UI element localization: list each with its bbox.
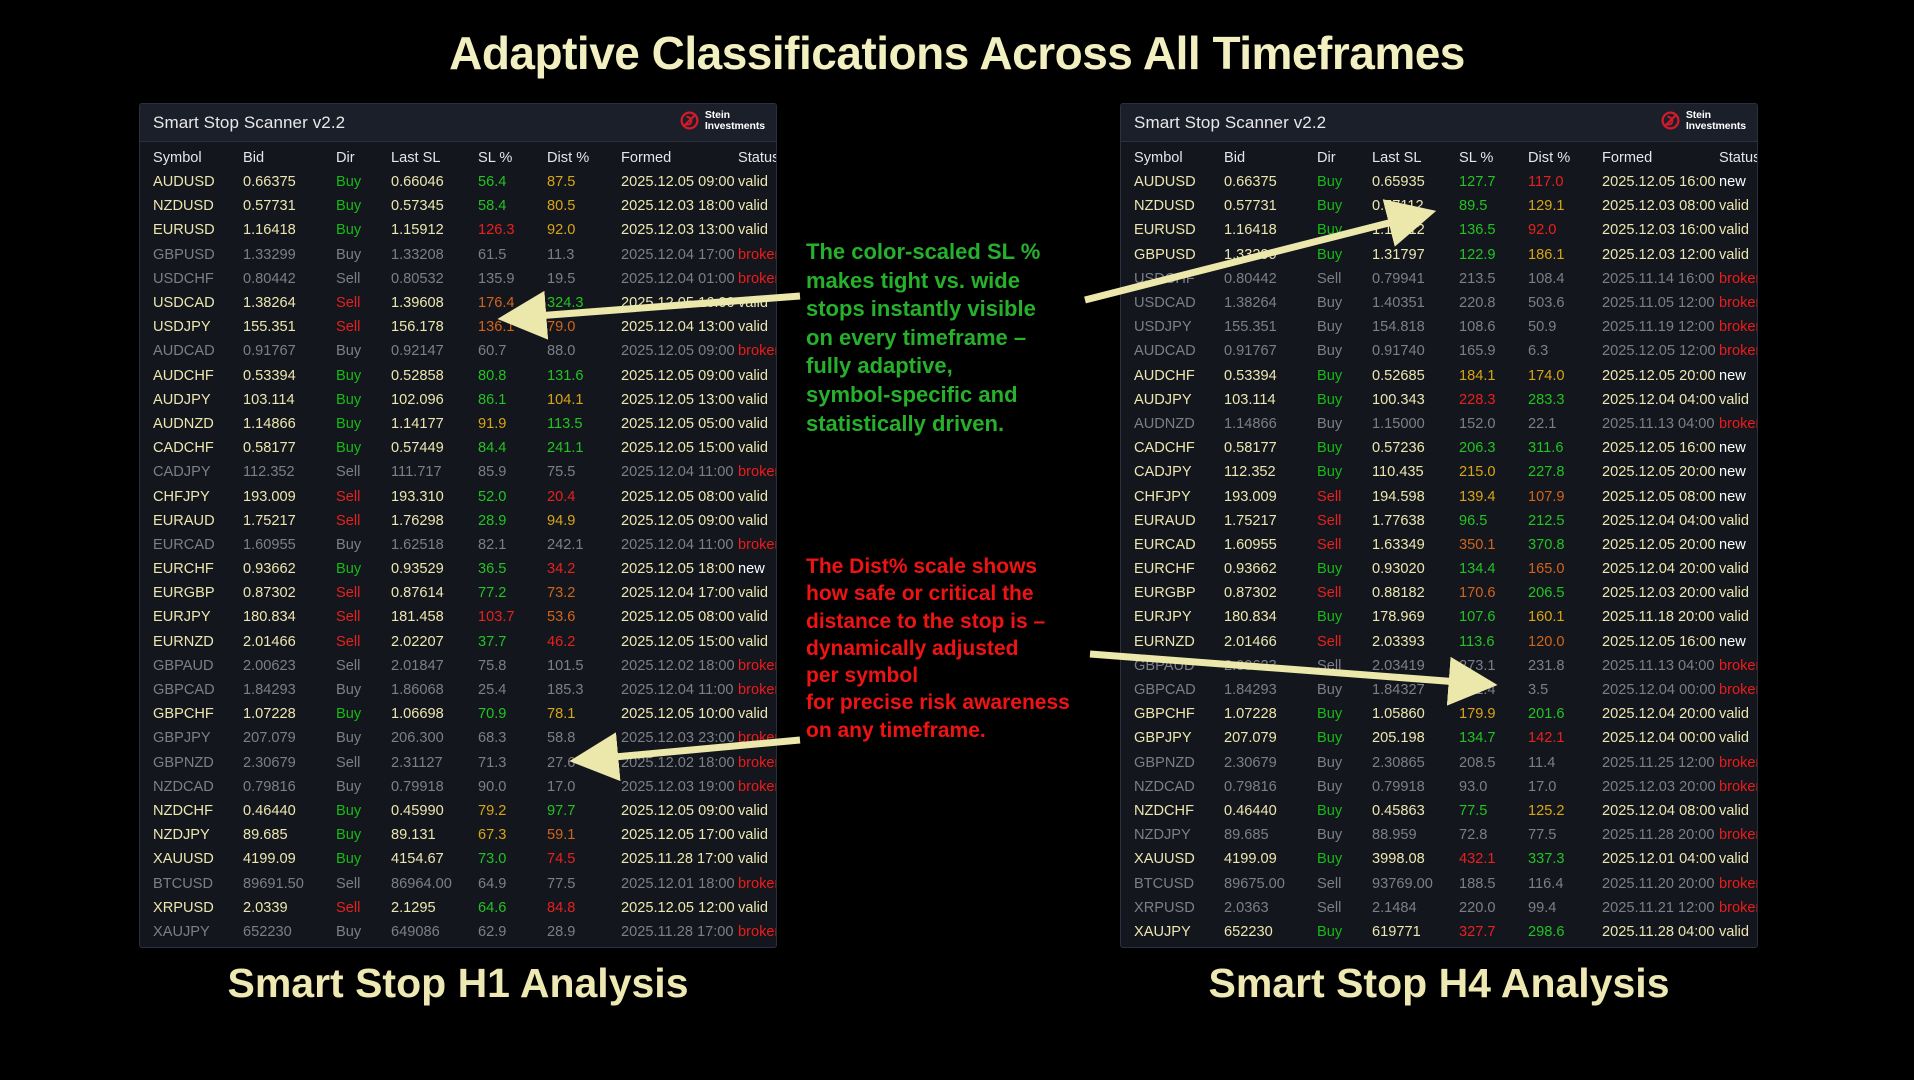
column-header-symbol: Symbol: [140, 142, 243, 170]
cell-last-sl: 2.1484: [1372, 896, 1459, 920]
cell-sl-percent: 165.9: [1459, 339, 1528, 363]
cell-dist-percent: 59.1: [547, 823, 621, 847]
cell-last-sl: 619771: [1372, 920, 1459, 944]
table-row[interactable]: GBPJPY207.079Buy205.198134.7142.12025.12…: [1121, 726, 1758, 750]
cell-symbol: EURAUD: [1121, 509, 1224, 533]
cell-dir: Buy: [1317, 315, 1372, 339]
cell-bid: 103.114: [1224, 388, 1317, 412]
table-row[interactable]: AUDCHF0.53394Buy0.52685184.1174.02025.12…: [1121, 364, 1758, 388]
cell-formed: 2025.11.25 12:00: [1602, 751, 1719, 775]
table-row[interactable]: EURUSD1.16418Buy1.15912126.392.02025.12.…: [140, 218, 777, 242]
table-row[interactable]: GBPAUD2.00623Sell2.0184775.8101.52025.12…: [140, 654, 777, 678]
table-row[interactable]: USDJPY155.351Buy154.818108.650.92025.11.…: [1121, 315, 1758, 339]
cell-sl-percent: 220.0: [1459, 896, 1528, 920]
cell-status: new: [1719, 170, 1758, 194]
cell-sl-percent: 86.1: [478, 388, 547, 412]
cell-bid: 89675.00: [1224, 871, 1317, 895]
stein-logo-icon: [679, 110, 700, 131]
cell-bid: 0.46440: [243, 799, 336, 823]
cell-symbol: USDCHF: [1121, 267, 1224, 291]
cell-status: new: [1719, 436, 1758, 460]
cell-bid: 155.351: [243, 315, 336, 339]
cell-last-sl: 0.57449: [391, 436, 478, 460]
cell-formed: 2025.12.04 04:00: [1602, 388, 1719, 412]
table-row[interactable]: CHFJPY193.009Sell193.31052.020.42025.12.…: [140, 484, 777, 508]
cell-last-sl: 6438.96: [391, 944, 478, 948]
table-row[interactable]: USDCAD1.38264Sell1.39608176.4324.32025.1…: [140, 291, 777, 315]
cell-last-sl: 2.02207: [391, 630, 478, 654]
cell-dist-percent: 87.5: [547, 170, 621, 194]
cell-formed: 2025.12.02 18:00: [621, 654, 738, 678]
cell-status: valid: [1719, 581, 1758, 605]
cell-symbol: GBPJPY: [140, 726, 243, 750]
table-row[interactable]: NZDCHF0.46440Buy0.4586377.5125.22025.12.…: [1121, 799, 1758, 823]
cell-status: broken: [1719, 678, 1758, 702]
table-row[interactable]: EURJPY180.834Sell181.458103.753.62025.12…: [140, 605, 777, 629]
cell-sl-percent: 213.5: [1459, 267, 1528, 291]
cell-last-sl: 1.63349: [1372, 533, 1459, 557]
cell-dir: Buy: [1317, 339, 1372, 363]
column-header-bid: Bid: [243, 142, 336, 170]
cell-bid: 89.685: [1224, 823, 1317, 847]
table-row[interactable]: AUDNZD1.14866Buy1.15000152.022.12025.11.…: [1121, 412, 1758, 436]
cell-last-sl: 0.79918: [1372, 775, 1459, 799]
cell-symbol: XAUJPY: [1121, 920, 1224, 944]
cell-bid: 1.33299: [243, 243, 336, 267]
cell-bid: 1.60955: [243, 533, 336, 557]
cell-sl-percent: 136.1: [478, 315, 547, 339]
cell-symbol: AUDUSD: [1121, 170, 1224, 194]
cell-formed: 2025.12.03 23:00: [621, 726, 738, 750]
table-row[interactable]: USDCAD1.38264Buy1.40351220.8503.62025.11…: [1121, 291, 1758, 315]
cell-status: valid: [738, 799, 777, 823]
cell-dist-percent: 92.0: [547, 218, 621, 242]
cell-dir: Buy: [1317, 388, 1372, 412]
cell-status: broken: [1719, 896, 1758, 920]
cell-symbol: EURCAD: [1121, 533, 1224, 557]
cell-symbol: CHFJPY: [1121, 484, 1224, 508]
cell-sl-percent: 228.3: [1459, 388, 1528, 412]
cell-last-sl: 2.01847: [391, 654, 478, 678]
table-row[interactable]: NZDUSD0.57731Buy0.5711289.5129.12025.12.…: [1121, 194, 1758, 218]
cell-formed: 2025.11.14 16:00: [1602, 267, 1719, 291]
table-row[interactable]: EURGBP0.87302Sell0.8761477.273.22025.12.…: [140, 581, 777, 605]
cell-symbol: BTCUSD: [140, 871, 243, 895]
table-row[interactable]: EURCHF0.93662Buy0.93020134.4165.02025.12…: [1121, 557, 1758, 581]
table-row[interactable]: GBPUSD1.33299Buy1.3320861.511.32025.12.0…: [140, 243, 777, 267]
cell-bid: 0.79816: [1224, 775, 1317, 799]
cell-sl-percent: 134.4: [1459, 557, 1528, 581]
cell-sl-percent: 152.0: [1459, 412, 1528, 436]
table-row[interactable]: GBPJPY207.079Buy206.30068.358.82025.12.0…: [140, 726, 777, 750]
table-row[interactable]: CADCHF0.58177Buy0.57236206.3311.62025.12…: [1121, 436, 1758, 460]
column-header-symbol: Symbol: [1121, 142, 1224, 170]
table-row[interactable]: AUDNZD1.14866Buy1.1417791.9113.52025.12.…: [140, 412, 777, 436]
cell-symbol: AUDCAD: [140, 339, 243, 363]
cell-sl-percent: 273.1: [1459, 654, 1528, 678]
cell-dir: Buy: [336, 170, 391, 194]
cell-bid: 652230: [243, 920, 336, 944]
cell-dist-percent: 116.4: [1528, 871, 1602, 895]
cell-formed: 2025.11.28 17:00: [621, 847, 738, 871]
cell-symbol: EURUSD: [140, 218, 243, 242]
cell-formed: 2025.11.28 04:00: [1602, 920, 1719, 944]
table-row[interactable]: EURJPY180.834Buy178.969107.6160.12025.11…: [1121, 605, 1758, 629]
cell-dir: Sell: [336, 484, 391, 508]
cell-sl-percent: 28.9: [478, 509, 547, 533]
brand-logo: Stein Investments: [679, 110, 765, 131]
cell-symbol: NZDUSD: [140, 194, 243, 218]
cell-symbol: EURNZD: [1121, 630, 1224, 654]
page-title: Adaptive Classifications Across All Time…: [0, 26, 1914, 80]
cell-dir: Sell: [336, 896, 391, 920]
table-row[interactable]: BTCUSD89691.50Sell86964.0064.977.52025.1…: [140, 871, 777, 895]
table-row[interactable]: XRPUSD2.0339Sell2.129564.684.82025.12.05…: [140, 896, 777, 920]
cell-dir: Sell: [1317, 267, 1372, 291]
table-row[interactable]: CHFJPY193.009Sell194.598139.4107.92025.1…: [1121, 484, 1758, 508]
cell-sl-percent: 25.4: [478, 678, 547, 702]
cell-dir: Buy: [1317, 364, 1372, 388]
column-header-formed: Formed: [1602, 142, 1719, 170]
table-row[interactable]: GBPNZD2.30679Sell2.3112771.327.62025.12.…: [140, 751, 777, 775]
table-row[interactable]: NZDUSD0.57731Buy0.5734558.480.52025.12.0…: [140, 194, 777, 218]
cell-symbol: NZDUSD: [1121, 194, 1224, 218]
table-row[interactable]: AUDJPY103.114Buy102.09686.1104.12025.12.…: [140, 388, 777, 412]
cell-bid: 2.00623: [243, 654, 336, 678]
table-row[interactable]: AUDUSD0.66375Buy0.6604656.487.52025.12.0…: [140, 170, 777, 194]
cell-dir: Buy: [336, 847, 391, 871]
cell-last-sl: 86964.00: [391, 871, 478, 895]
table-row[interactable]: USDJPY155.351Sell156.178136.179.02025.12…: [140, 315, 777, 339]
cell-sl-percent: 90.0: [478, 775, 547, 799]
cell-last-sl: 0.57345: [391, 194, 478, 218]
cell-dir: Sell: [336, 315, 391, 339]
cell-dist-percent: 88.0: [547, 339, 621, 363]
table-row[interactable]: GBPNZD2.30679Buy2.30865208.511.42025.11.…: [1121, 751, 1758, 775]
cell-formed: 2025.12.05 09:00: [621, 364, 738, 388]
table-row[interactable]: XAUJPY652230Buy64908662.928.92025.11.28 …: [140, 920, 777, 944]
cell-symbol: EURUSD: [1121, 218, 1224, 242]
cell-symbol: CADJPY: [1121, 460, 1224, 484]
table-row[interactable]: XAUUSD4199.09Buy4154.6773.074.52025.11.2…: [140, 847, 777, 871]
cell-symbol: XRPUSD: [1121, 896, 1224, 920]
cell-status: broken: [1719, 291, 1758, 315]
cell-status: broken: [738, 871, 777, 895]
cell-dir: Buy: [1317, 847, 1372, 871]
cell-bid: 89.685: [243, 823, 336, 847]
table-row[interactable]: EURNZD2.01466Sell2.0220737.746.22025.12.…: [140, 630, 777, 654]
table-row[interactable]: GBPCAD1.84293Buy1.84327201.43.52025.12.0…: [1121, 678, 1758, 702]
cell-symbol: GBPJPY: [1121, 726, 1224, 750]
cell-symbol: EURJPY: [140, 605, 243, 629]
cell-status: broken: [1719, 267, 1758, 291]
cell-formed: 2025.12.01 04:00: [1602, 944, 1719, 948]
cell-dir: Buy: [336, 388, 391, 412]
table-row[interactable]: XAUAUD6318.97Sell6438.96130.9136.72025.1…: [140, 944, 777, 948]
cell-formed: 2025.12.04 17:00: [621, 243, 738, 267]
cell-dist-percent: 97.7: [547, 799, 621, 823]
table-row[interactable]: EURCAD1.60955Buy1.6251882.1242.12025.12.…: [140, 533, 777, 557]
table-row[interactable]: NZDJPY89.685Buy89.13167.359.12025.12.05 …: [140, 823, 777, 847]
cell-last-sl: 1.15912: [391, 218, 478, 242]
table-row[interactable]: AUDCAD0.91767Buy0.9214760.788.02025.12.0…: [140, 339, 777, 363]
cell-last-sl: 2.30865: [1372, 751, 1459, 775]
cell-formed: 2025.12.03 18:00: [621, 194, 738, 218]
cell-last-sl: 1.39608: [391, 291, 478, 315]
cell-bid: 0.80442: [1224, 267, 1317, 291]
brand-logo: Stein Investments: [1660, 110, 1746, 131]
cell-bid: 193.009: [243, 484, 336, 508]
table-row[interactable]: CADCHF0.58177Buy0.5744984.4241.12025.12.…: [140, 436, 777, 460]
cell-last-sl: 0.87614: [391, 581, 478, 605]
cell-dir: Buy: [336, 920, 391, 944]
cell-symbol: GBPCHF: [1121, 702, 1224, 726]
cell-dir: Sell: [336, 605, 391, 629]
cell-status: valid: [738, 315, 777, 339]
table-row[interactable]: GBPCHF1.07228Buy1.05860179.9201.62025.12…: [1121, 702, 1758, 726]
cell-sl-percent: 73.0: [478, 847, 547, 871]
cell-bid: 0.53394: [1224, 364, 1317, 388]
cell-dir: Buy: [1317, 702, 1372, 726]
cell-last-sl: 0.93529: [391, 557, 478, 581]
cell-bid: 0.80442: [243, 267, 336, 291]
cell-formed: 2025.12.02 18:00: [621, 751, 738, 775]
cell-status: valid: [1719, 726, 1758, 750]
cell-status: broken: [738, 267, 777, 291]
cell-symbol: USDJPY: [1121, 315, 1224, 339]
column-header-last-sl: Last SL: [1372, 142, 1459, 170]
cell-formed: 2025.11.21 12:00: [1602, 896, 1719, 920]
cell-symbol: CHFJPY: [140, 484, 243, 508]
table-row[interactable]: XRPUSD2.0363Sell2.1484220.099.42025.11.2…: [1121, 896, 1758, 920]
cell-symbol: EURGBP: [140, 581, 243, 605]
cell-dist-percent: 231.8: [1528, 654, 1602, 678]
cell-formed: 2025.12.05 12:00: [621, 896, 738, 920]
column-header-sl-percent: SL %: [1459, 142, 1528, 170]
cell-last-sl: 0.66046: [391, 170, 478, 194]
cell-last-sl: 0.52858: [391, 364, 478, 388]
cell-sl-percent: 107.6: [1459, 605, 1528, 629]
cell-status: valid: [738, 436, 777, 460]
cell-symbol: NZDCHF: [1121, 799, 1224, 823]
table-row[interactable]: USDCHF0.80442Sell0.79941213.5108.42025.1…: [1121, 267, 1758, 291]
table-row[interactable]: EURCHF0.93662Buy0.9352936.534.22025.12.0…: [140, 557, 777, 581]
cell-symbol: EURGBP: [1121, 581, 1224, 605]
cell-bid: 2.0339: [243, 896, 336, 920]
cell-formed: 2025.11.18 20:00: [1602, 605, 1719, 629]
cell-dir: Buy: [336, 364, 391, 388]
cell-formed: 2025.12.05 08:00: [621, 605, 738, 629]
cell-dist-percent: 107.9: [1528, 484, 1602, 508]
cell-dir: Buy: [1317, 218, 1372, 242]
cell-sl-percent: 139.4: [1459, 484, 1528, 508]
cell-last-sl: 193.310: [391, 484, 478, 508]
cell-dir: Sell: [1317, 509, 1372, 533]
cell-formed: 2025.12.05 20:00: [1602, 460, 1719, 484]
panel-header: Smart Stop Scanner v2.2 Stein Investment…: [1121, 104, 1757, 142]
cell-last-sl: 2.03419: [1372, 654, 1459, 678]
cell-bid: 2.0363: [1224, 896, 1317, 920]
cell-formed: 2025.12.05 13:00: [621, 388, 738, 412]
table-row[interactable]: GBPCHF1.07228Buy1.0669870.978.12025.12.0…: [140, 702, 777, 726]
cell-last-sl: 1.62518: [391, 533, 478, 557]
table-row[interactable]: USDCHF0.80442Sell0.80532135.919.52025.12…: [140, 267, 777, 291]
table-row[interactable]: NZDCAD0.79816Buy0.7991893.017.02025.12.0…: [1121, 775, 1758, 799]
cell-status: valid: [738, 581, 777, 605]
panel-title: Smart Stop Scanner v2.2: [1134, 113, 1326, 133]
cell-bid: 1.84293: [1224, 678, 1317, 702]
cell-bid: 0.58177: [1224, 436, 1317, 460]
cell-dir: Buy: [1317, 412, 1372, 436]
cell-sl-percent: 93.0: [1459, 775, 1528, 799]
cell-dist-percent: 324.3: [547, 291, 621, 315]
cell-sl-percent: 91.9: [478, 412, 547, 436]
cell-formed: 2025.12.04 08:00: [621, 944, 738, 948]
cell-sl-percent: 134.7: [1459, 726, 1528, 750]
table-row[interactable]: AUDCAD0.91767Buy0.91740165.96.32025.12.0…: [1121, 339, 1758, 363]
cell-formed: 2025.12.04 20:00: [1602, 702, 1719, 726]
stein-logo-icon: [1660, 110, 1681, 131]
cell-last-sl: 0.52685: [1372, 364, 1459, 388]
cell-formed: 2025.11.28 17:00: [621, 920, 738, 944]
cell-dist-percent: 283.3: [1528, 388, 1602, 412]
table-row[interactable]: GBPUSD1.33299Buy1.31797122.9186.12025.12…: [1121, 243, 1758, 267]
cell-formed: 2025.12.05 16:00: [621, 291, 738, 315]
cell-formed: 2025.12.05 15:00: [621, 436, 738, 460]
cell-sl-percent: 432.1: [1459, 847, 1528, 871]
cell-bid: 89691.50: [243, 871, 336, 895]
cell-last-sl: 0.88182: [1372, 581, 1459, 605]
cell-dir: Sell: [1317, 896, 1372, 920]
table-row[interactable]: AUDUSD0.66375Buy0.65935127.7117.02025.12…: [1121, 170, 1758, 194]
cell-symbol: XRPUSD: [140, 896, 243, 920]
table-row[interactable]: NZDCHF0.46440Buy0.4599079.297.72025.12.0…: [140, 799, 777, 823]
cell-formed: 2025.12.05 08:00: [621, 484, 738, 508]
cell-sl-percent: 215.0: [1459, 460, 1528, 484]
cell-last-sl: 1.77638: [1372, 509, 1459, 533]
table-row[interactable]: GBPCAD1.84293Buy1.8606825.4185.32025.12.…: [140, 678, 777, 702]
table-row[interactable]: AUDCHF0.53394Buy0.5285880.8131.62025.12.…: [140, 364, 777, 388]
cell-sl-percent: 208.5: [1459, 751, 1528, 775]
table-row[interactable]: GBPAUD2.00623Sell2.03419273.1231.82025.1…: [1121, 654, 1758, 678]
cell-dist-percent: 3.5: [1528, 678, 1602, 702]
cell-symbol: NZDJPY: [1121, 823, 1224, 847]
cell-sl-percent: 135.9: [478, 267, 547, 291]
cell-last-sl: 181.458: [391, 605, 478, 629]
cell-dist-percent: 79.0: [547, 315, 621, 339]
cell-bid: 1.84293: [243, 678, 336, 702]
table-row[interactable]: CADJPY112.352Sell111.71785.975.52025.12.…: [140, 460, 777, 484]
cell-symbol: XAUAUD: [140, 944, 243, 948]
cell-dist-percent: 227.8: [1528, 460, 1602, 484]
cell-formed: 2025.12.05 12:00: [1602, 339, 1719, 363]
cell-sl-percent: 103.7: [478, 605, 547, 629]
table-row[interactable]: EURGBP0.87302Sell0.88182170.6206.52025.1…: [1121, 581, 1758, 605]
cell-sl-percent: 372.6: [1459, 944, 1528, 948]
cell-dist-percent: 503.6: [1528, 291, 1602, 315]
table-row[interactable]: XAUAUD6318.97Buy6167.62372.6172.52025.12…: [1121, 944, 1758, 948]
cell-status: broken: [738, 533, 777, 557]
cell-dir: Buy: [1317, 678, 1372, 702]
scanner-table-h4: SymbolBidDirLast SLSL %Dist %FormedStatu…: [1121, 142, 1758, 948]
cell-sl-percent: 201.4: [1459, 678, 1528, 702]
cell-last-sl: 1.15000: [1372, 412, 1459, 436]
cell-dir: Sell: [336, 654, 391, 678]
cell-dir: Buy: [336, 533, 391, 557]
cell-symbol: AUDNZD: [140, 412, 243, 436]
cell-last-sl: 2.31127: [391, 751, 478, 775]
cell-bid: 180.834: [243, 605, 336, 629]
cell-sl-percent: 62.9: [478, 920, 547, 944]
table-row[interactable]: EURAUD1.75217Sell1.7763896.5212.52025.12…: [1121, 509, 1758, 533]
cell-sl-percent: 220.8: [1459, 291, 1528, 315]
cell-sl-percent: 60.7: [478, 339, 547, 363]
cell-bid: 0.57731: [1224, 194, 1317, 218]
cell-sl-percent: 72.8: [1459, 823, 1528, 847]
cell-status: valid: [1719, 557, 1758, 581]
cell-dir: Buy: [336, 775, 391, 799]
cell-last-sl: 3998.08: [1372, 847, 1459, 871]
cell-status: valid: [1719, 388, 1758, 412]
cell-bid: 0.57731: [243, 194, 336, 218]
cell-bid: 1.75217: [243, 509, 336, 533]
table-row[interactable]: EURCAD1.60955Sell1.63349350.1370.82025.1…: [1121, 533, 1758, 557]
table-row[interactable]: CADJPY112.352Buy110.435215.0227.82025.12…: [1121, 460, 1758, 484]
cell-formed: 2025.12.05 09:00: [621, 170, 738, 194]
table-row[interactable]: EURUSD1.16418Buy1.15912136.592.02025.12.…: [1121, 218, 1758, 242]
cell-bid: 6318.97: [1224, 944, 1317, 948]
column-header-bid: Bid: [1224, 142, 1317, 170]
cell-dir: Sell: [1317, 533, 1372, 557]
cell-sl-percent: 64.9: [478, 871, 547, 895]
cell-dir: Sell: [336, 944, 391, 948]
cell-bid: 6318.97: [243, 944, 336, 948]
table-row[interactable]: XAUUSD4199.09Buy3998.08432.1337.32025.12…: [1121, 847, 1758, 871]
panel-header: Smart Stop Scanner v2.2 Stein Investment…: [140, 104, 776, 142]
cell-status: valid: [738, 702, 777, 726]
table-header: SymbolBidDirLast SLSL %Dist %FormedStatu…: [140, 142, 777, 170]
cell-last-sl: 649086: [391, 920, 478, 944]
table-row[interactable]: AUDJPY103.114Buy100.343228.3283.32025.12…: [1121, 388, 1758, 412]
scanner-panel-h1: Smart Stop Scanner v2.2 Stein Investment…: [139, 103, 777, 948]
cell-status: valid: [738, 896, 777, 920]
table-row[interactable]: EURAUD1.75217Sell1.7629828.994.92025.12.…: [140, 509, 777, 533]
table-row[interactable]: BTCUSD89675.00Sell93769.00188.5116.42025…: [1121, 871, 1758, 895]
cell-dir: Buy: [1317, 605, 1372, 629]
cell-formed: 2025.12.04 20:00: [1602, 557, 1719, 581]
cell-status: valid: [738, 823, 777, 847]
cell-sl-percent: 126.3: [478, 218, 547, 242]
cell-bid: 0.93662: [1224, 557, 1317, 581]
cell-symbol: CADCHF: [1121, 436, 1224, 460]
cell-sl-percent: 184.1: [1459, 364, 1528, 388]
table-row[interactable]: NZDCAD0.79816Buy0.7991890.017.02025.12.0…: [140, 775, 777, 799]
cell-status: valid: [1719, 847, 1758, 871]
cell-dist-percent: 136.7: [547, 944, 621, 948]
cell-symbol: GBPNZD: [1121, 751, 1224, 775]
cell-dist-percent: 11.3: [547, 243, 621, 267]
cell-symbol: CADJPY: [140, 460, 243, 484]
table-row[interactable]: XAUJPY652230Buy619771327.7298.62025.11.2…: [1121, 920, 1758, 944]
table-row[interactable]: EURNZD2.01466Sell2.03393113.6120.02025.1…: [1121, 630, 1758, 654]
cell-dir: Sell: [336, 630, 391, 654]
cell-sl-percent: 350.1: [1459, 533, 1528, 557]
callout-dist-percent: The Dist% scale shows how safe or critic…: [806, 553, 1096, 744]
table-row[interactable]: NZDJPY89.685Buy88.95972.877.52025.11.28 …: [1121, 823, 1758, 847]
cell-status: new: [1719, 460, 1758, 484]
cell-formed: 2025.12.03 13:00: [621, 218, 738, 242]
cell-dir: Buy: [1317, 799, 1372, 823]
